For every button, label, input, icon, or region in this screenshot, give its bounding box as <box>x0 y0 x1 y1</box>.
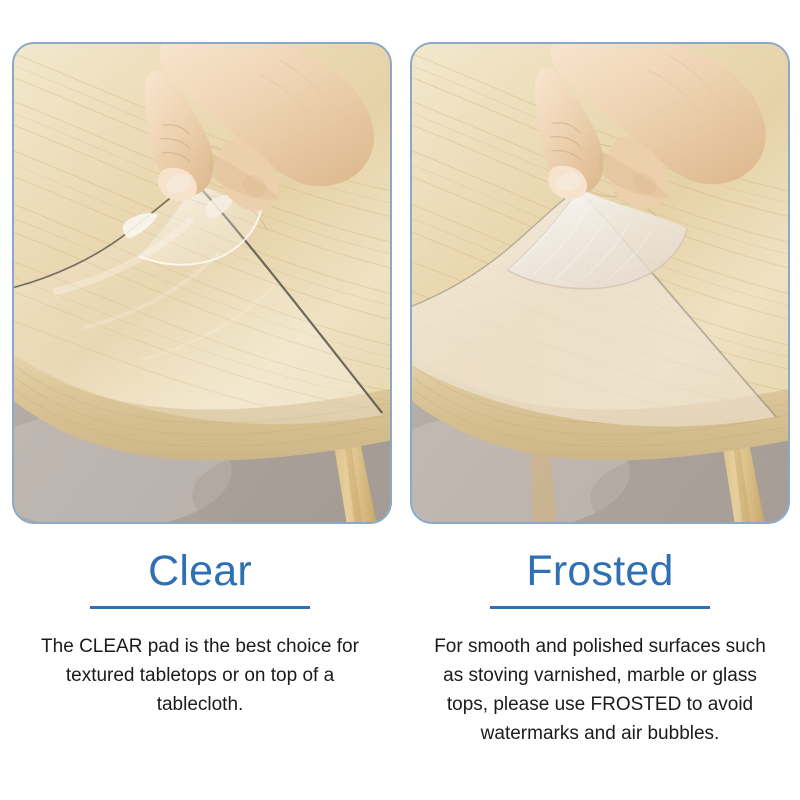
frosted-description: For smooth and polished surfaces such as… <box>422 632 778 748</box>
clear-pad-photo <box>12 42 392 524</box>
frosted-heading-underline <box>490 606 710 609</box>
clear-description: The CLEAR pad is the best choice for tex… <box>22 632 378 719</box>
caption-column-clear: Clear The CLEAR pad is the best choice f… <box>5 534 395 719</box>
clear-heading: Clear <box>5 534 395 597</box>
caption-row: Clear The CLEAR pad is the best choice f… <box>0 534 800 800</box>
clear-heading-underline <box>90 606 310 609</box>
product-comparison-infographic: Clear The CLEAR pad is the best choice f… <box>0 0 800 800</box>
caption-column-frosted: Frosted For smooth and polished surfaces… <box>405 534 795 748</box>
frosted-pad-photo <box>410 42 790 524</box>
frosted-pad-illustration <box>412 44 788 522</box>
clear-pad-illustration <box>14 44 390 522</box>
photo-panel-row <box>0 0 800 534</box>
frosted-heading: Frosted <box>405 534 795 597</box>
